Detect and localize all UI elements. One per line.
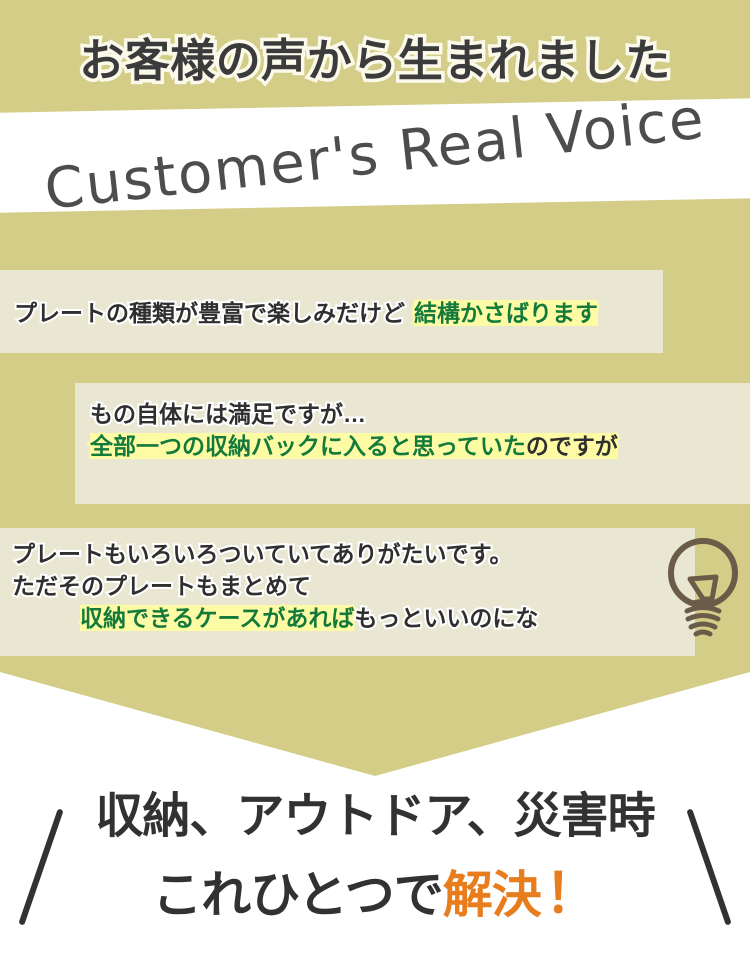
cta-line-2-accent: 解決 xyxy=(443,867,541,923)
testimonial-3-line-2: ただそのプレートもまとめて xyxy=(12,570,538,602)
lightbulb-icon xyxy=(662,533,744,639)
page-title: お客様の声から生まれました xyxy=(0,24,750,89)
cta-exclamation: ！ xyxy=(541,864,598,924)
testimonial-1-seg-green: 結構かさばります xyxy=(414,300,598,326)
testimonial-3-seg-plain-1: プレートもいろいろついていてありがたいです。 xyxy=(12,541,512,567)
testimonial-1-line-1: プレートの種類が豊富で楽しみだけど結構かさばります xyxy=(14,297,598,329)
testimonial-3-seg-green: 収納できるケースがあれば xyxy=(80,605,354,631)
testimonial-2-line-1: もの自体には満足ですが… xyxy=(90,398,618,430)
cta-block: 収納、アウトドア、災害時 これひとつで解決！ xyxy=(0,786,750,929)
testimonial-2-text: もの自体には満足ですが… 全部一つの収納バックに入ると思っていたのですが xyxy=(90,398,618,462)
testimonial-2-seg-green: 全部一つの収納バックに入ると思っていた xyxy=(90,433,526,459)
testimonial-1-seg-plain: プレートの種類が豊富で楽しみだけど xyxy=(14,300,414,326)
testimonial-2-line-2: 全部一つの収納バックに入ると思っていたのですが xyxy=(90,430,618,462)
testimonial-3-seg-plain-3: もっといいのにな xyxy=(354,605,538,631)
testimonial-2-seg-dark: のですが xyxy=(526,433,618,459)
testimonial-2-seg-plain: もの自体には満足ですが… xyxy=(90,401,366,427)
testimonial-3-line-1: プレートもいろいろついていてありがたいです。 xyxy=(12,538,538,570)
cta-line-2-prefix: これひとつで xyxy=(152,867,443,923)
cta-line-2: これひとつで解決！ xyxy=(0,860,750,929)
testimonial-3-seg-plain-2: ただそのプレートもまとめて xyxy=(12,573,311,599)
testimonial-3-line-3: 収納できるケースがあればもっといいのにな xyxy=(12,602,538,634)
testimonial-1-text: プレートの種類が豊富で楽しみだけど結構かさばります xyxy=(14,297,598,329)
testimonial-3-text: プレートもいろいろついていてありがたいです。 ただそのプレートもまとめて 収納で… xyxy=(12,538,538,634)
cta-line-1: 収納、アウトドア、災害時 xyxy=(0,786,750,848)
